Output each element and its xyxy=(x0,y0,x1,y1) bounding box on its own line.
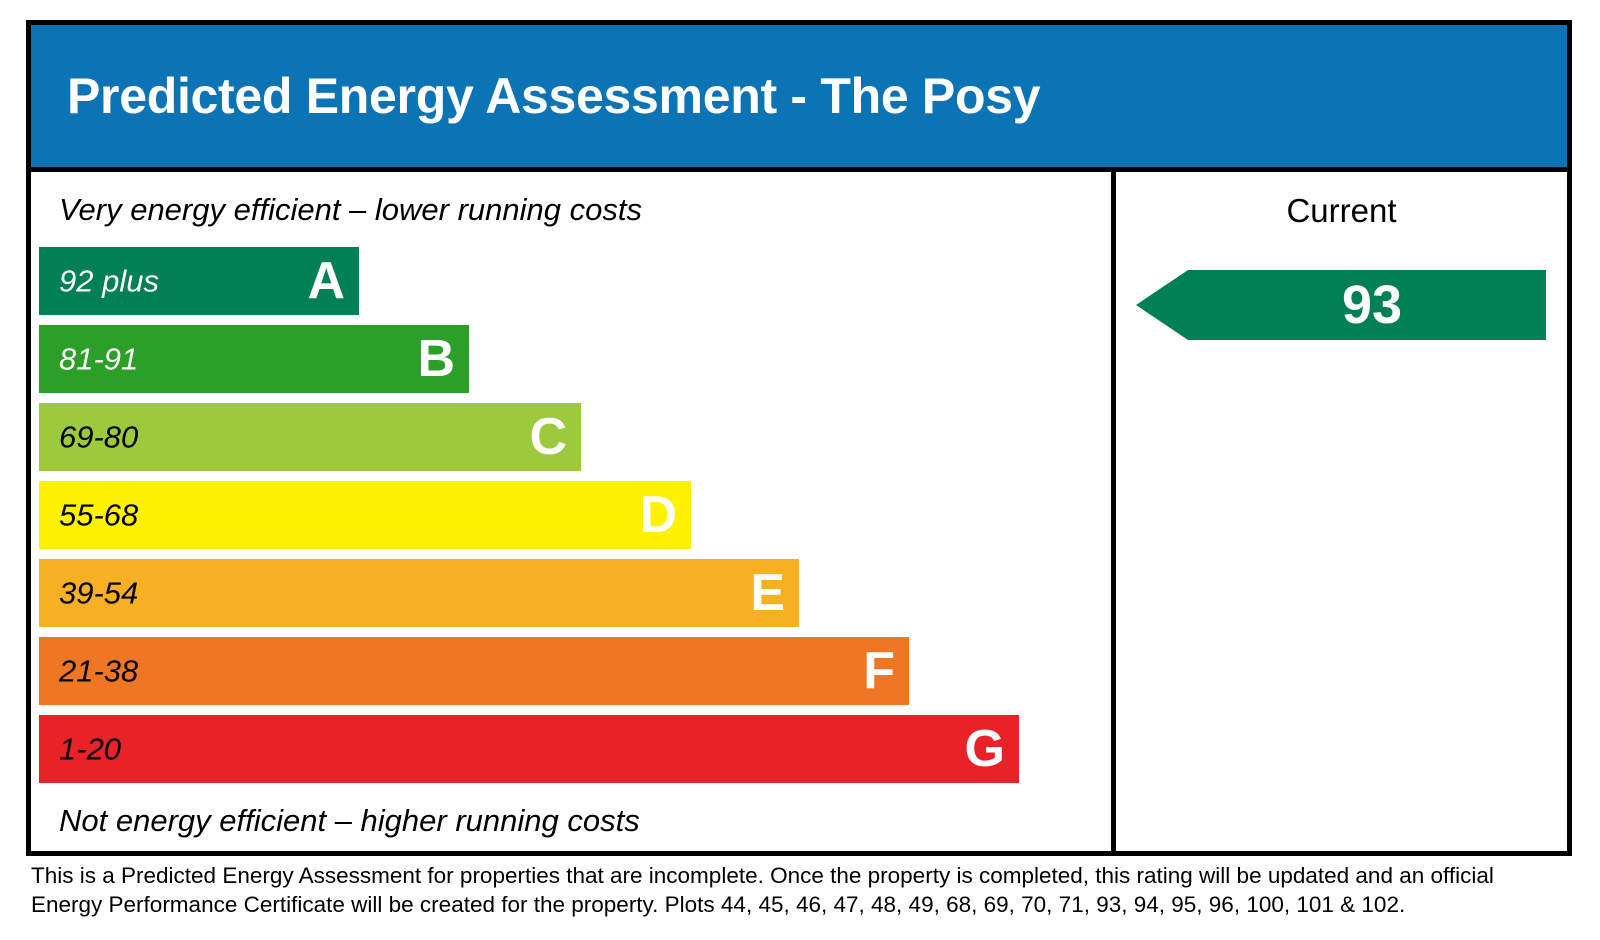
band-range-label: 21-38 xyxy=(59,656,138,687)
band-row: 39-54 E xyxy=(31,559,1111,637)
energy-band-e: 39-54 E xyxy=(39,559,799,627)
epc-certificate: Predicted Energy Assessment - The Posy V… xyxy=(0,0,1600,940)
band-row: 81-91 B xyxy=(31,325,1111,403)
certificate-frame: Predicted Energy Assessment - The Posy V… xyxy=(26,20,1572,856)
not-efficient-note: Not energy efficient – higher running co… xyxy=(59,805,640,836)
current-rating-panel: Current 93 xyxy=(1116,172,1567,851)
band-letter-label: D xyxy=(639,489,677,541)
band-row: 69-80 C xyxy=(31,403,1111,481)
band-letter-label: C xyxy=(529,411,567,463)
band-row: 21-38 F xyxy=(31,637,1111,715)
energy-band-c: 69-80 C xyxy=(39,403,581,471)
band-range-label: 92 plus xyxy=(59,266,159,297)
energy-band-b: 81-91 B xyxy=(39,325,469,393)
certificate-header: Predicted Energy Assessment - The Posy xyxy=(31,25,1567,167)
band-range-label: 81-91 xyxy=(59,344,138,375)
energy-band-g: 1-20 G xyxy=(39,715,1019,783)
band-range-label: 55-68 xyxy=(59,500,138,531)
band-letter-label: A xyxy=(307,255,345,307)
energy-scale-panel: Very energy efficient – lower running co… xyxy=(31,172,1116,851)
footnote: This is a Predicted Energy Assessment fo… xyxy=(31,862,1561,920)
current-rating-value: 93 xyxy=(1136,278,1546,332)
band-range-label: 69-80 xyxy=(59,422,138,453)
band-letter-label: E xyxy=(750,567,785,619)
band-range-label: 1-20 xyxy=(59,734,121,765)
band-letter-label: G xyxy=(965,723,1005,775)
band-row: 92 plus A xyxy=(31,247,1111,325)
very-efficient-note: Very energy efficient – lower running co… xyxy=(59,194,642,225)
current-rating-indicator: 93 xyxy=(1136,270,1546,340)
band-row: 1-20 G xyxy=(31,715,1111,793)
band-letter-label: B xyxy=(417,333,455,385)
current-column-header: Current xyxy=(1116,194,1567,227)
page-title: Predicted Energy Assessment - The Posy xyxy=(67,71,1040,121)
band-letter-label: F xyxy=(863,645,895,697)
footnote-line-2: Certificate will be created for the prop… xyxy=(244,892,1406,917)
energy-band-a: 92 plus A xyxy=(39,247,359,315)
energy-band-list: 92 plus A 81-91 B 69-80 C xyxy=(31,247,1111,793)
energy-band-f: 21-38 F xyxy=(39,637,909,705)
energy-band-d: 55-68 D xyxy=(39,481,691,549)
band-range-label: 39-54 xyxy=(59,578,138,609)
band-row: 55-68 D xyxy=(31,481,1111,559)
certificate-body: Very energy efficient – lower running co… xyxy=(31,167,1567,851)
